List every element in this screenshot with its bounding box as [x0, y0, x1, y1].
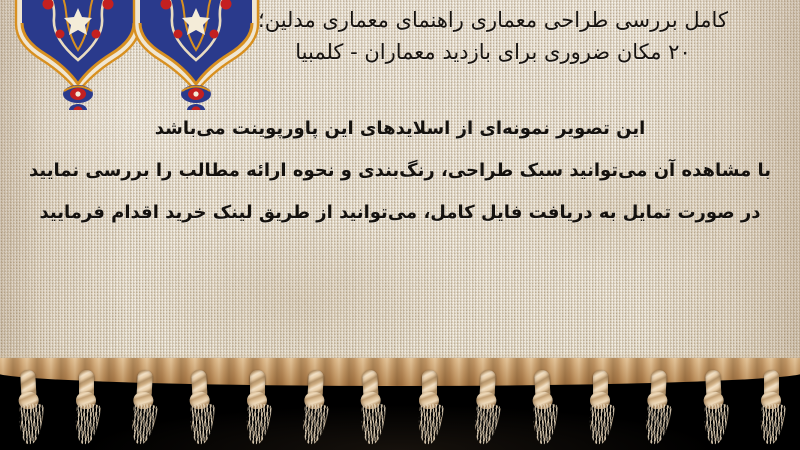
- fringe-threads: [360, 403, 386, 444]
- fringe-threads: [416, 404, 444, 444]
- fringe-threads: [128, 404, 158, 445]
- carpet-fringe: [0, 352, 800, 450]
- title-line-2: ۲۰ مکان ضروری برای بازدید معماران - کلمب…: [204, 36, 782, 68]
- fringe-tassel: [71, 370, 101, 444]
- fringe-threads: [299, 404, 329, 445]
- slide-canvas: کامل بررسی طراحی معماری راهنمای معماری م…: [0, 0, 800, 450]
- fringe-threads: [244, 404, 272, 444]
- fringe-threads: [758, 404, 786, 444]
- fringe-tassel: [640, 369, 674, 444]
- slide-title: کامل بررسی طراحی معماری راهنمای معماری م…: [204, 4, 782, 68]
- fringe-tassel: [585, 370, 615, 444]
- title-line-1: کامل بررسی طراحی معماری راهنمای معماری م…: [204, 4, 782, 36]
- fringe-threads: [18, 403, 44, 444]
- fringe-threads: [471, 404, 501, 445]
- fringe-threads: [532, 403, 558, 444]
- body-line-3: در صورت تمایل به دریافت فایل کامل، می‌تو…: [0, 192, 800, 234]
- fringe-threads: [189, 403, 215, 444]
- fringe-tassel: [697, 369, 731, 444]
- fringe-threads: [587, 404, 615, 444]
- fringe-tassel: [242, 370, 272, 444]
- slide-body: این تصویر نمونه‌ای از اسلایدهای این پاور…: [0, 108, 800, 234]
- fringe-tassel: [183, 369, 217, 444]
- fringe-threads: [73, 404, 101, 444]
- fringe-tassel: [756, 370, 786, 444]
- fringe-threads: [642, 404, 672, 445]
- text-layer: کامل بررسی طراحی معماری راهنمای معماری م…: [0, 0, 800, 378]
- body-line-2: با مشاهده آن می‌توانید سبک طراحی، رنگ‌بن…: [0, 150, 800, 192]
- fringe-threads: [703, 403, 729, 444]
- fringe-tassel: [414, 370, 444, 444]
- fringe-tassel: [12, 369, 46, 444]
- fringe-tassel: [297, 369, 331, 444]
- fringe-tassel: [469, 369, 503, 444]
- fringe-tassel: [126, 369, 160, 444]
- fringe-cord-band: [0, 358, 800, 386]
- body-line-1: این تصویر نمونه‌ای از اسلایدهای این پاور…: [0, 108, 800, 150]
- fringe-tassel: [354, 369, 388, 444]
- fringe-tassel: [526, 369, 560, 444]
